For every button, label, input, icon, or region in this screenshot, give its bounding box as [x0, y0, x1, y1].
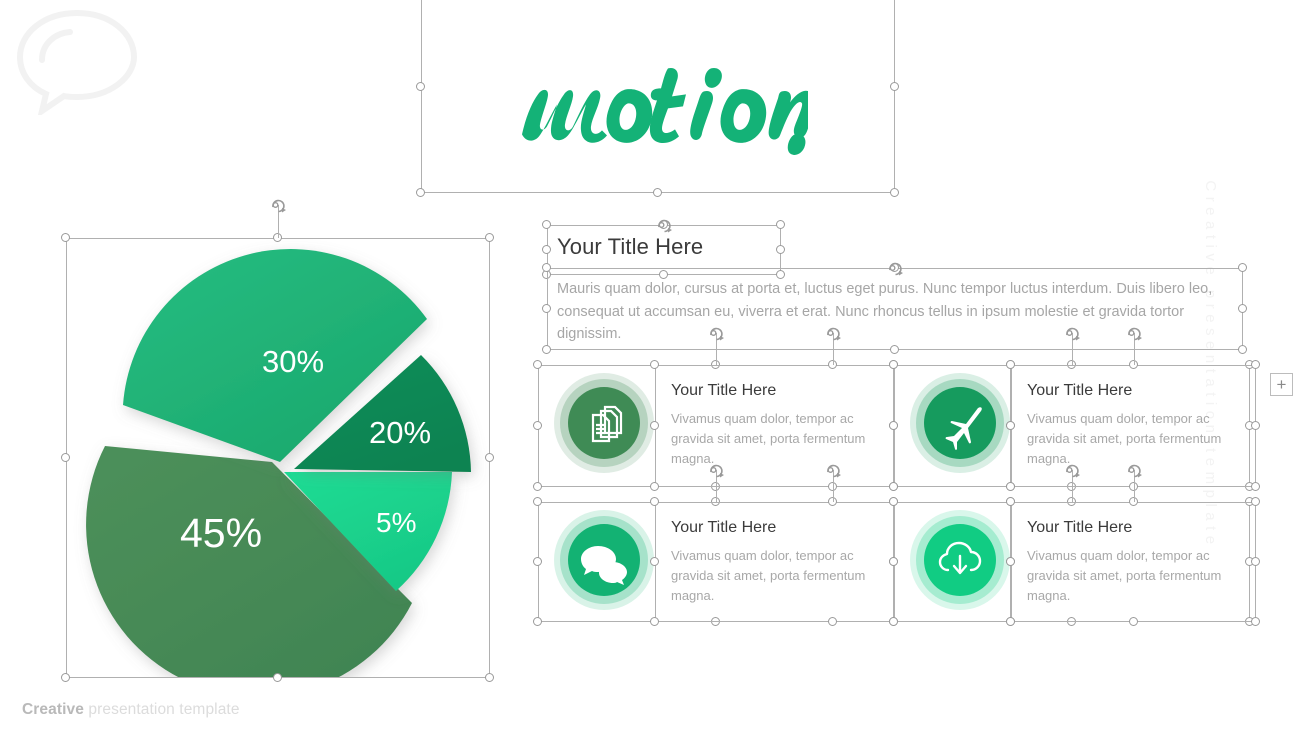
resize-handle[interactable]	[61, 453, 70, 462]
rotate-handle-icon[interactable]	[655, 216, 673, 234]
rotate-handle-icon[interactable]	[824, 461, 842, 479]
resize-handle[interactable]	[776, 245, 785, 254]
resize-handle[interactable]	[1006, 617, 1015, 626]
rotate-handle-icon[interactable]	[886, 259, 904, 277]
resize-handle[interactable]	[890, 82, 899, 91]
resize-handle[interactable]	[650, 421, 659, 430]
chat-bubbles-icon	[552, 508, 656, 612]
pie-chart[interactable]: 30% 20% 5% 45%	[66, 232, 490, 678]
rotate-handle-icon[interactable]	[1063, 324, 1081, 342]
pie-chart-svg	[66, 232, 490, 678]
resize-handle[interactable]	[542, 345, 551, 354]
rotate-handle-icon[interactable]	[1125, 324, 1143, 342]
footer-credit: Creative presentation template	[22, 701, 240, 719]
resize-handle[interactable]	[889, 421, 898, 430]
resize-handle[interactable]	[1006, 557, 1015, 566]
rotate-handle-icon[interactable]	[824, 324, 842, 342]
feature-card-1-title: Your Title Here	[671, 382, 776, 400]
resize-handle[interactable]	[776, 220, 785, 229]
resize-handle[interactable]	[542, 263, 551, 272]
footer-credit-bold: Creative	[22, 701, 84, 718]
resize-handle[interactable]	[542, 245, 551, 254]
footer-credit-rest: presentation template	[84, 701, 240, 718]
resize-handle[interactable]	[416, 82, 425, 91]
resize-handle[interactable]	[890, 345, 899, 354]
resize-handle[interactable]	[1067, 617, 1076, 626]
resize-handle[interactable]	[659, 270, 668, 279]
resize-handle[interactable]	[711, 617, 720, 626]
resize-handle[interactable]	[533, 482, 542, 491]
feature-card-2-body: Vivamus quam dolor, tempor ac gravida si…	[1027, 409, 1243, 469]
resize-handle[interactable]	[533, 557, 542, 566]
resize-handle[interactable]	[1129, 617, 1138, 626]
rotate-handle-icon[interactable]	[269, 196, 287, 214]
resize-handle[interactable]	[889, 360, 898, 369]
resize-handle[interactable]	[1006, 497, 1015, 506]
resize-handle[interactable]	[1251, 497, 1260, 506]
resize-handle[interactable]	[61, 673, 70, 682]
feature-card-4[interactable]: Your Title Here Vivamus quam dolor, temp…	[894, 502, 1249, 622]
resize-handle[interactable]	[650, 617, 659, 626]
documents-stack-icon	[552, 371, 656, 475]
resize-handle[interactable]	[889, 497, 898, 506]
resize-handle[interactable]	[416, 188, 425, 197]
resize-handle[interactable]	[1251, 360, 1260, 369]
resize-handle[interactable]	[485, 453, 494, 462]
resize-handle[interactable]	[542, 220, 551, 229]
resize-handle[interactable]	[650, 557, 659, 566]
rotate-handle-icon[interactable]	[1063, 461, 1081, 479]
rotate-handle-icon[interactable]	[707, 461, 725, 479]
speech-bubble-icon	[12, 5, 142, 115]
section-body[interactable]: Mauris quam dolor, cursus at porta et, l…	[557, 278, 1222, 346]
resize-handle[interactable]	[1006, 482, 1015, 491]
resize-handle[interactable]	[650, 482, 659, 491]
resize-handle[interactable]	[273, 673, 282, 682]
resize-handle[interactable]	[533, 421, 542, 430]
resize-handle[interactable]	[890, 188, 899, 197]
resize-handle[interactable]	[653, 188, 662, 197]
motion-logo[interactable]	[420, 0, 895, 193]
feature-card-4-title: Your Title Here	[1027, 519, 1132, 537]
resize-handle[interactable]	[889, 557, 898, 566]
resize-handle[interactable]	[889, 617, 898, 626]
feature-card-2-title: Your Title Here	[1027, 382, 1132, 400]
resize-handle[interactable]	[1251, 482, 1260, 491]
resize-handle[interactable]	[533, 360, 542, 369]
feature-card-3-body: Vivamus quam dolor, tempor ac gravida si…	[671, 546, 887, 606]
rotate-handle-icon[interactable]	[707, 324, 725, 342]
resize-handle[interactable]	[1238, 304, 1247, 313]
resize-handle[interactable]	[1006, 421, 1015, 430]
section-title[interactable]: Your Title Here	[557, 234, 703, 260]
resize-handle[interactable]	[485, 233, 494, 242]
feature-card-3-title: Your Title Here	[671, 519, 776, 537]
resize-handle[interactable]	[650, 497, 659, 506]
resize-handle[interactable]	[650, 360, 659, 369]
airplane-icon	[908, 371, 1012, 475]
resize-handle[interactable]	[828, 617, 837, 626]
slide-canvas: Creative presentation template Creative …	[0, 0, 1313, 730]
cloud-download-icon	[908, 508, 1012, 612]
feature-card-1-body: Vivamus quam dolor, tempor ac gravida si…	[671, 409, 887, 469]
resize-handle[interactable]	[1238, 345, 1247, 354]
feature-card-4-body: Vivamus quam dolor, tempor ac gravida si…	[1027, 546, 1243, 606]
resize-handle[interactable]	[889, 482, 898, 491]
resize-handle[interactable]	[776, 270, 785, 279]
resize-handle[interactable]	[1238, 263, 1247, 272]
resize-handle[interactable]	[533, 497, 542, 506]
resize-handle[interactable]	[1251, 617, 1260, 626]
resize-handle[interactable]	[1006, 360, 1015, 369]
resize-handle[interactable]	[485, 673, 494, 682]
resize-handle[interactable]	[61, 233, 70, 242]
add-slide-button[interactable]: +	[1270, 373, 1293, 396]
resize-handle[interactable]	[542, 304, 551, 313]
feature-card-3[interactable]: Your Title Here Vivamus quam dolor, temp…	[538, 502, 893, 622]
resize-handle[interactable]	[1251, 557, 1260, 566]
resize-handle[interactable]	[1251, 421, 1260, 430]
rotate-handle-icon[interactable]	[1125, 461, 1143, 479]
resize-handle[interactable]	[533, 617, 542, 626]
